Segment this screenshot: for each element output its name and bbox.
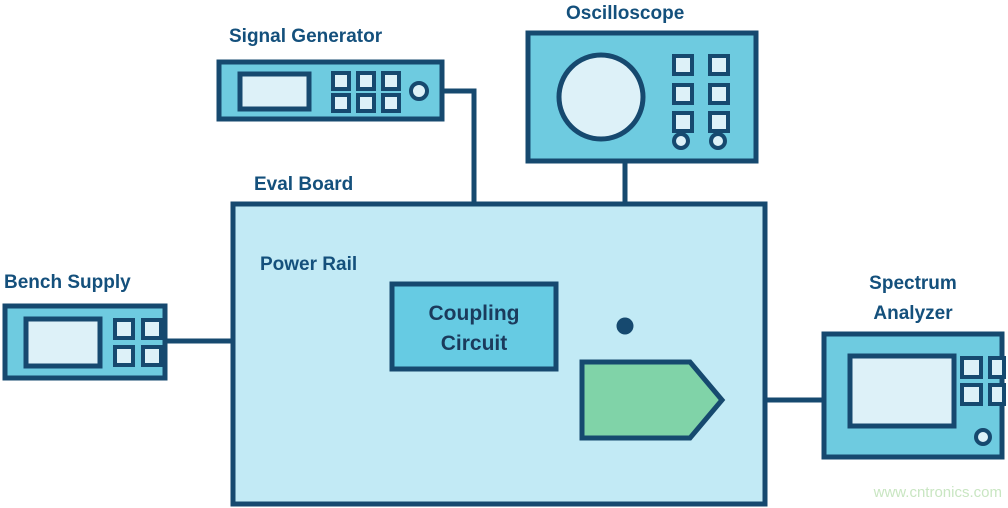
oscilloscope-icon[interactable] (528, 33, 756, 161)
label-eval-board: Eval Board (254, 174, 353, 195)
diagram-canvas: Bench Supply Signal Generator Oscillosco… (0, 0, 1008, 508)
label-spectrum-analyzer-line2: Analyzer (873, 303, 953, 324)
signal-generator-icon[interactable] (219, 62, 442, 119)
label-bench-supply: Bench Supply (4, 272, 131, 293)
amplifier-pentagon-icon[interactable] (582, 362, 722, 438)
label-signal-generator: Signal Generator (229, 26, 383, 47)
label-spectrum-analyzer-line1: Spectrum (869, 273, 957, 294)
label-coupling-circuit-line1: Coupling (429, 302, 520, 325)
junction-dot-icon (617, 318, 634, 335)
spectrum-analyzer-icon[interactable] (824, 334, 1004, 457)
coupling-circuit-block[interactable] (392, 284, 556, 369)
label-oscilloscope: Oscilloscope (566, 3, 684, 24)
label-power-rail: Power Rail (260, 254, 357, 275)
bench-supply-icon[interactable] (5, 306, 165, 378)
block-diagram-svg: Bench Supply Signal Generator Oscillosco… (0, 0, 1008, 508)
label-coupling-circuit-line2: Circuit (441, 332, 508, 355)
watermark-text: www.cntronics.com (873, 484, 1002, 501)
